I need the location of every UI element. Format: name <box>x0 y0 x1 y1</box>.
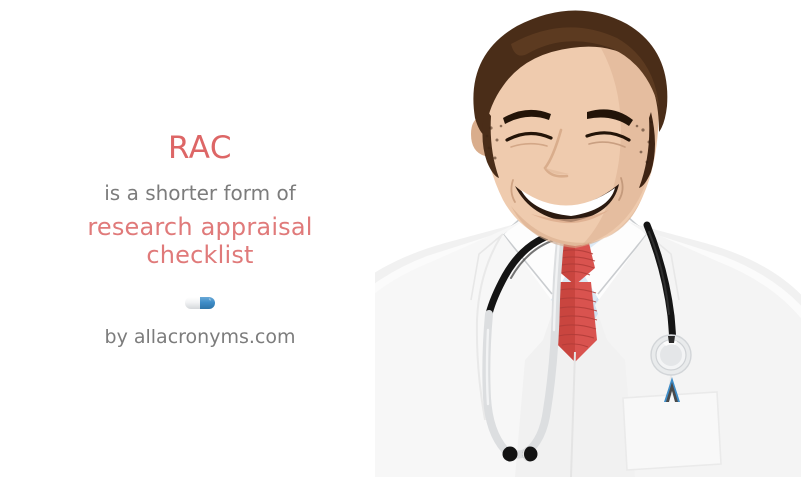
doctor-illustration <box>375 0 801 477</box>
definition-text-panel: RAC is a shorter form of research apprai… <box>0 0 400 477</box>
capsule-pill-icon <box>185 294 215 306</box>
expansion-text: research appraisal checklist <box>50 213 350 269</box>
relation-label: is a shorter form of <box>0 179 400 207</box>
acronym-definition-page: RAC is a shorter form of research apprai… <box>0 0 801 477</box>
acronym-title: RAC <box>0 128 400 168</box>
attribution-text: by allacronyms.com <box>0 324 400 350</box>
